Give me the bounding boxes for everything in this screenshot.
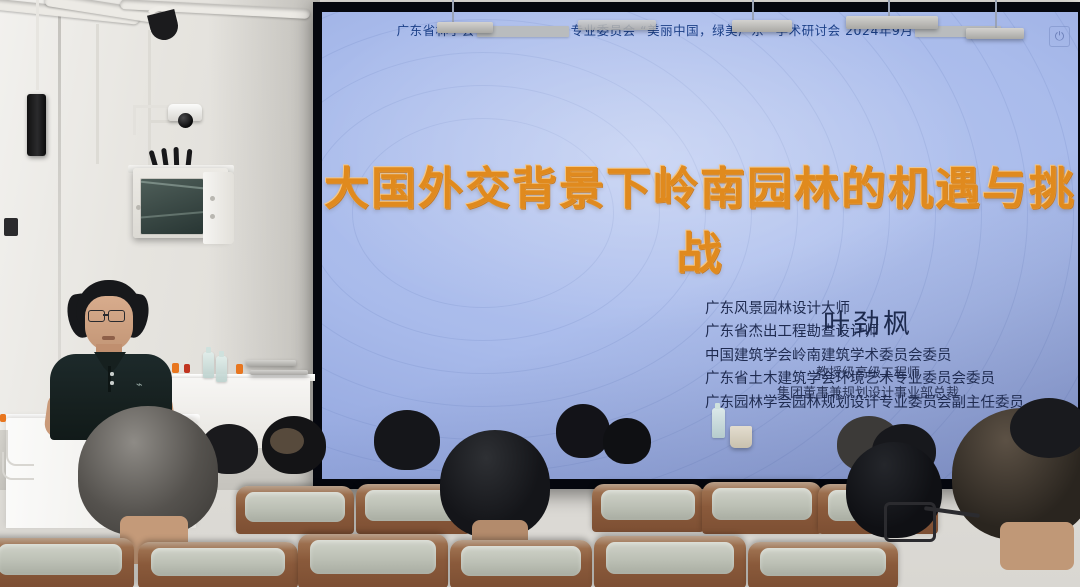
presenter-glasses-icon: [108, 310, 125, 322]
desk-cable-tray: [246, 360, 296, 366]
shirt-logo-icon: ⌁: [136, 378, 148, 390]
ceiling-projector-icon: [578, 20, 656, 30]
audience-chair: [702, 482, 822, 534]
camera-lens-icon: [178, 113, 193, 128]
ceiling-cable: [452, 0, 454, 24]
chair-cushion: [712, 488, 813, 520]
chair-cushion: [310, 540, 436, 573]
audience-head: [603, 418, 651, 464]
ceiling-light-fixture: [732, 20, 792, 32]
ceiling-cable: [752, 0, 754, 22]
water-bottle: [712, 408, 725, 438]
presenter-placket: [108, 366, 111, 392]
cabinet-latch-icon: [210, 214, 215, 219]
audience-head-highlight: [270, 428, 304, 454]
audience-chair: [450, 540, 592, 587]
audience-chair: [594, 536, 746, 587]
credential-item: 中国建筑学会岭南建筑学术委员会委员: [705, 345, 1024, 368]
shirt-button: [110, 381, 114, 385]
wall-conduit: [36, 0, 39, 90]
cabinet-latch-icon: [210, 196, 215, 201]
water-bottle: [203, 352, 214, 378]
ceiling-cable: [995, 0, 997, 30]
ceiling-light-fixture: [437, 22, 493, 33]
credential-item: 广东省土木建筑学会环境艺术专业委员会委员: [705, 368, 1024, 391]
presenter-glasses-icon: [88, 310, 105, 322]
presenter-mouth: [102, 336, 115, 340]
power-button-icon[interactable]: ⏻: [1049, 26, 1070, 47]
audience-chair: [592, 484, 704, 532]
audience-neck: [1000, 522, 1074, 570]
slide-title: 大国外交背景下岭南园林的机遇与挑战: [322, 152, 1078, 282]
wall-conduit: [96, 24, 99, 164]
cabinet-glass-door: [140, 178, 204, 235]
shirt-button: [110, 372, 114, 376]
paper-cup: [730, 426, 752, 448]
wall-fixture-icon: [4, 218, 18, 236]
audience-head: [556, 404, 610, 458]
audience-chair: [138, 542, 298, 587]
chair-cushion: [245, 492, 344, 522]
audience-chair: [298, 534, 448, 587]
audience-chair: [748, 542, 898, 587]
desk-cable-tray: [250, 370, 308, 375]
chair-cushion: [0, 544, 122, 575]
screenshot-scene: 广东省林学会专业委员会 “美丽中国，绿美广东” 学术研讨会 2024年9月 大国…: [0, 0, 1080, 587]
glasses-bridge: [103, 314, 108, 316]
audience-chair: [236, 486, 354, 534]
audience: [0, 398, 1080, 587]
presenter-face: [85, 296, 133, 351]
chair-cushion: [601, 490, 695, 520]
chair-cushion: [760, 548, 886, 577]
audience-head: [374, 410, 440, 470]
slide-banner: 广东省林学会专业委员会 “美丽中国，绿美广东” 学术研讨会 2024年9月: [322, 20, 1078, 39]
ceiling-light-fixture: [966, 28, 1024, 39]
cabinet-side-panel: [203, 172, 234, 244]
chair-cushion: [151, 548, 285, 577]
water-bottle: [216, 356, 227, 382]
marker-cap: [236, 364, 243, 374]
credential-item: 广东风景园林设计大师: [705, 298, 1024, 321]
wall-speaker-icon: [27, 94, 46, 156]
camera-mount-post: [133, 105, 136, 135]
ceiling-light-fixture: [846, 16, 938, 29]
cabinet-latch-icon: [136, 205, 141, 210]
chair-cushion: [606, 542, 734, 574]
chair-cushion: [461, 546, 580, 576]
audience-hair: [1010, 398, 1080, 458]
credential-item: 广东省杰出工程勘查设计师: [705, 321, 1024, 344]
audience-chair: [0, 538, 134, 587]
